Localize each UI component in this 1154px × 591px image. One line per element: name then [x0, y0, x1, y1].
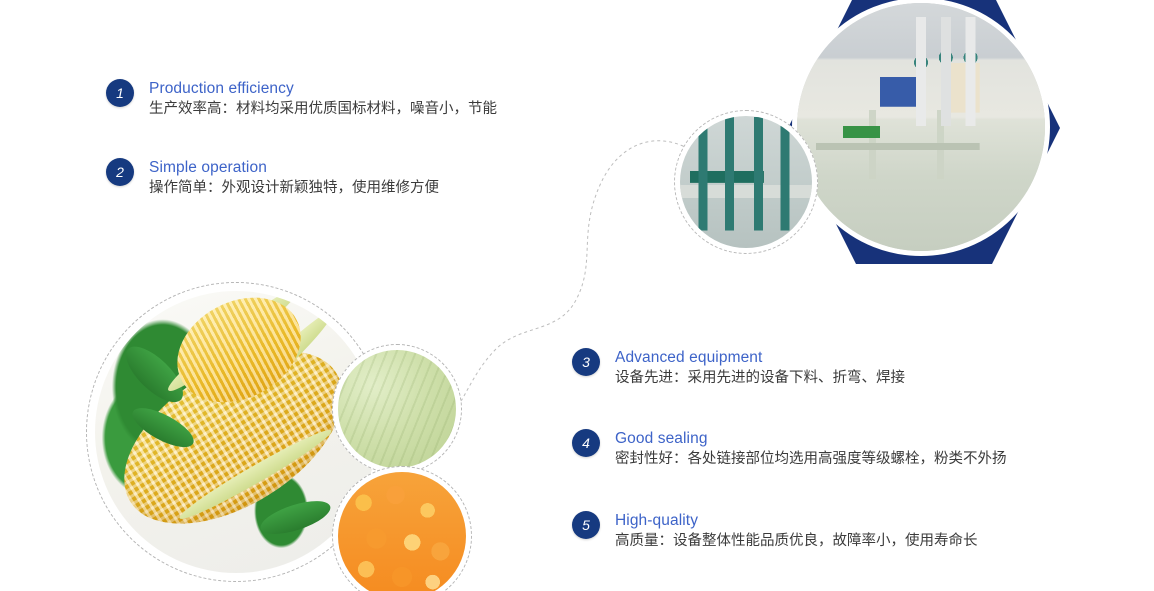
feature-desc-5: 高质量：设备整体性能品质优良，故障率小，使用寿命长 [615, 531, 978, 552]
feature-title-1: Production efficiency [149, 79, 497, 98]
corn-leaf-icon [127, 401, 199, 455]
corn-grits-photo [338, 472, 466, 591]
corn-husk-icon [236, 307, 337, 405]
feature-title-5: High-quality [615, 511, 978, 530]
feature-number-badge-4: 4 [572, 429, 600, 457]
flour-mill-plant-image [797, 3, 1045, 251]
corn-processing-line-image [680, 116, 812, 248]
corn-paste-photo-frame [332, 344, 462, 474]
feature-desc-2: 操作简单：外观设计新颖独特，使用维修方便 [149, 178, 439, 199]
feature-item-5: 5 High-quality 高质量：设备整体性能品质优良，故障率小，使用寿命长 [572, 511, 978, 552]
flour-mill-plant-photo [792, 0, 1050, 256]
feature-title-2: Simple operation [149, 158, 439, 177]
feature-text-4: Good sealing 密封性好：各处链接部位均选用高强度等级螺栓，粉类不外扬 [615, 429, 1007, 470]
feature-desc-4: 密封性好：各处链接部位均选用高强度等级螺栓，粉类不外扬 [615, 449, 1007, 470]
product-advantages-page: 1 Production efficiency 生产效率高：材料均采用优质国标材… [0, 0, 1154, 591]
feature-number-badge-5: 5 [572, 511, 600, 539]
machine-photo-group [672, 0, 1072, 282]
feature-item-2: 2 Simple operation 操作简单：外观设计新颖独特，使用维修方便 [106, 158, 439, 199]
feature-text-1: Production efficiency 生产效率高：材料均采用优质国标材料，… [149, 79, 497, 120]
feature-text-3: Advanced equipment 设备先进：采用先进的设备下料、折弯、焊接 [615, 348, 905, 389]
feature-title-3: Advanced equipment [615, 348, 905, 367]
corn-grits-photo-frame [332, 466, 472, 591]
feature-number-badge-2: 2 [106, 158, 134, 186]
corn-leaf-icon [117, 338, 191, 411]
feature-desc-3: 设备先进：采用先进的设备下料、折弯、焊接 [615, 368, 905, 389]
feature-text-5: High-quality 高质量：设备整体性能品质优良，故障率小，使用寿命长 [615, 511, 978, 552]
feature-desc-1: 生产效率高：材料均采用优质国标材料，噪音小，节能 [149, 99, 497, 120]
feature-number-badge-3: 3 [572, 348, 600, 376]
feature-item-3: 3 Advanced equipment 设备先进：采用先进的设备下料、折弯、焊… [572, 348, 905, 389]
feature-item-1: 1 Production efficiency 生产效率高：材料均采用优质国标材… [106, 79, 497, 120]
corn-processing-line-photo [680, 116, 812, 248]
corn-leaf-icon [256, 495, 334, 542]
feature-title-4: Good sealing [615, 429, 1007, 448]
corn-photo-group [86, 282, 466, 591]
corn-paste-image [338, 350, 456, 468]
corn-processing-line-photo-frame [674, 110, 818, 254]
feature-item-4: 4 Good sealing 密封性好：各处链接部位均选用高强度等级螺栓，粉类不… [572, 429, 1007, 470]
corn-paste-photo [338, 350, 456, 468]
corn-husk-icon [163, 291, 304, 398]
feature-number-badge-1: 1 [106, 79, 134, 107]
corn-grits-image [338, 472, 466, 591]
feature-text-2: Simple operation 操作简单：外观设计新颖独特，使用维修方便 [149, 158, 439, 199]
